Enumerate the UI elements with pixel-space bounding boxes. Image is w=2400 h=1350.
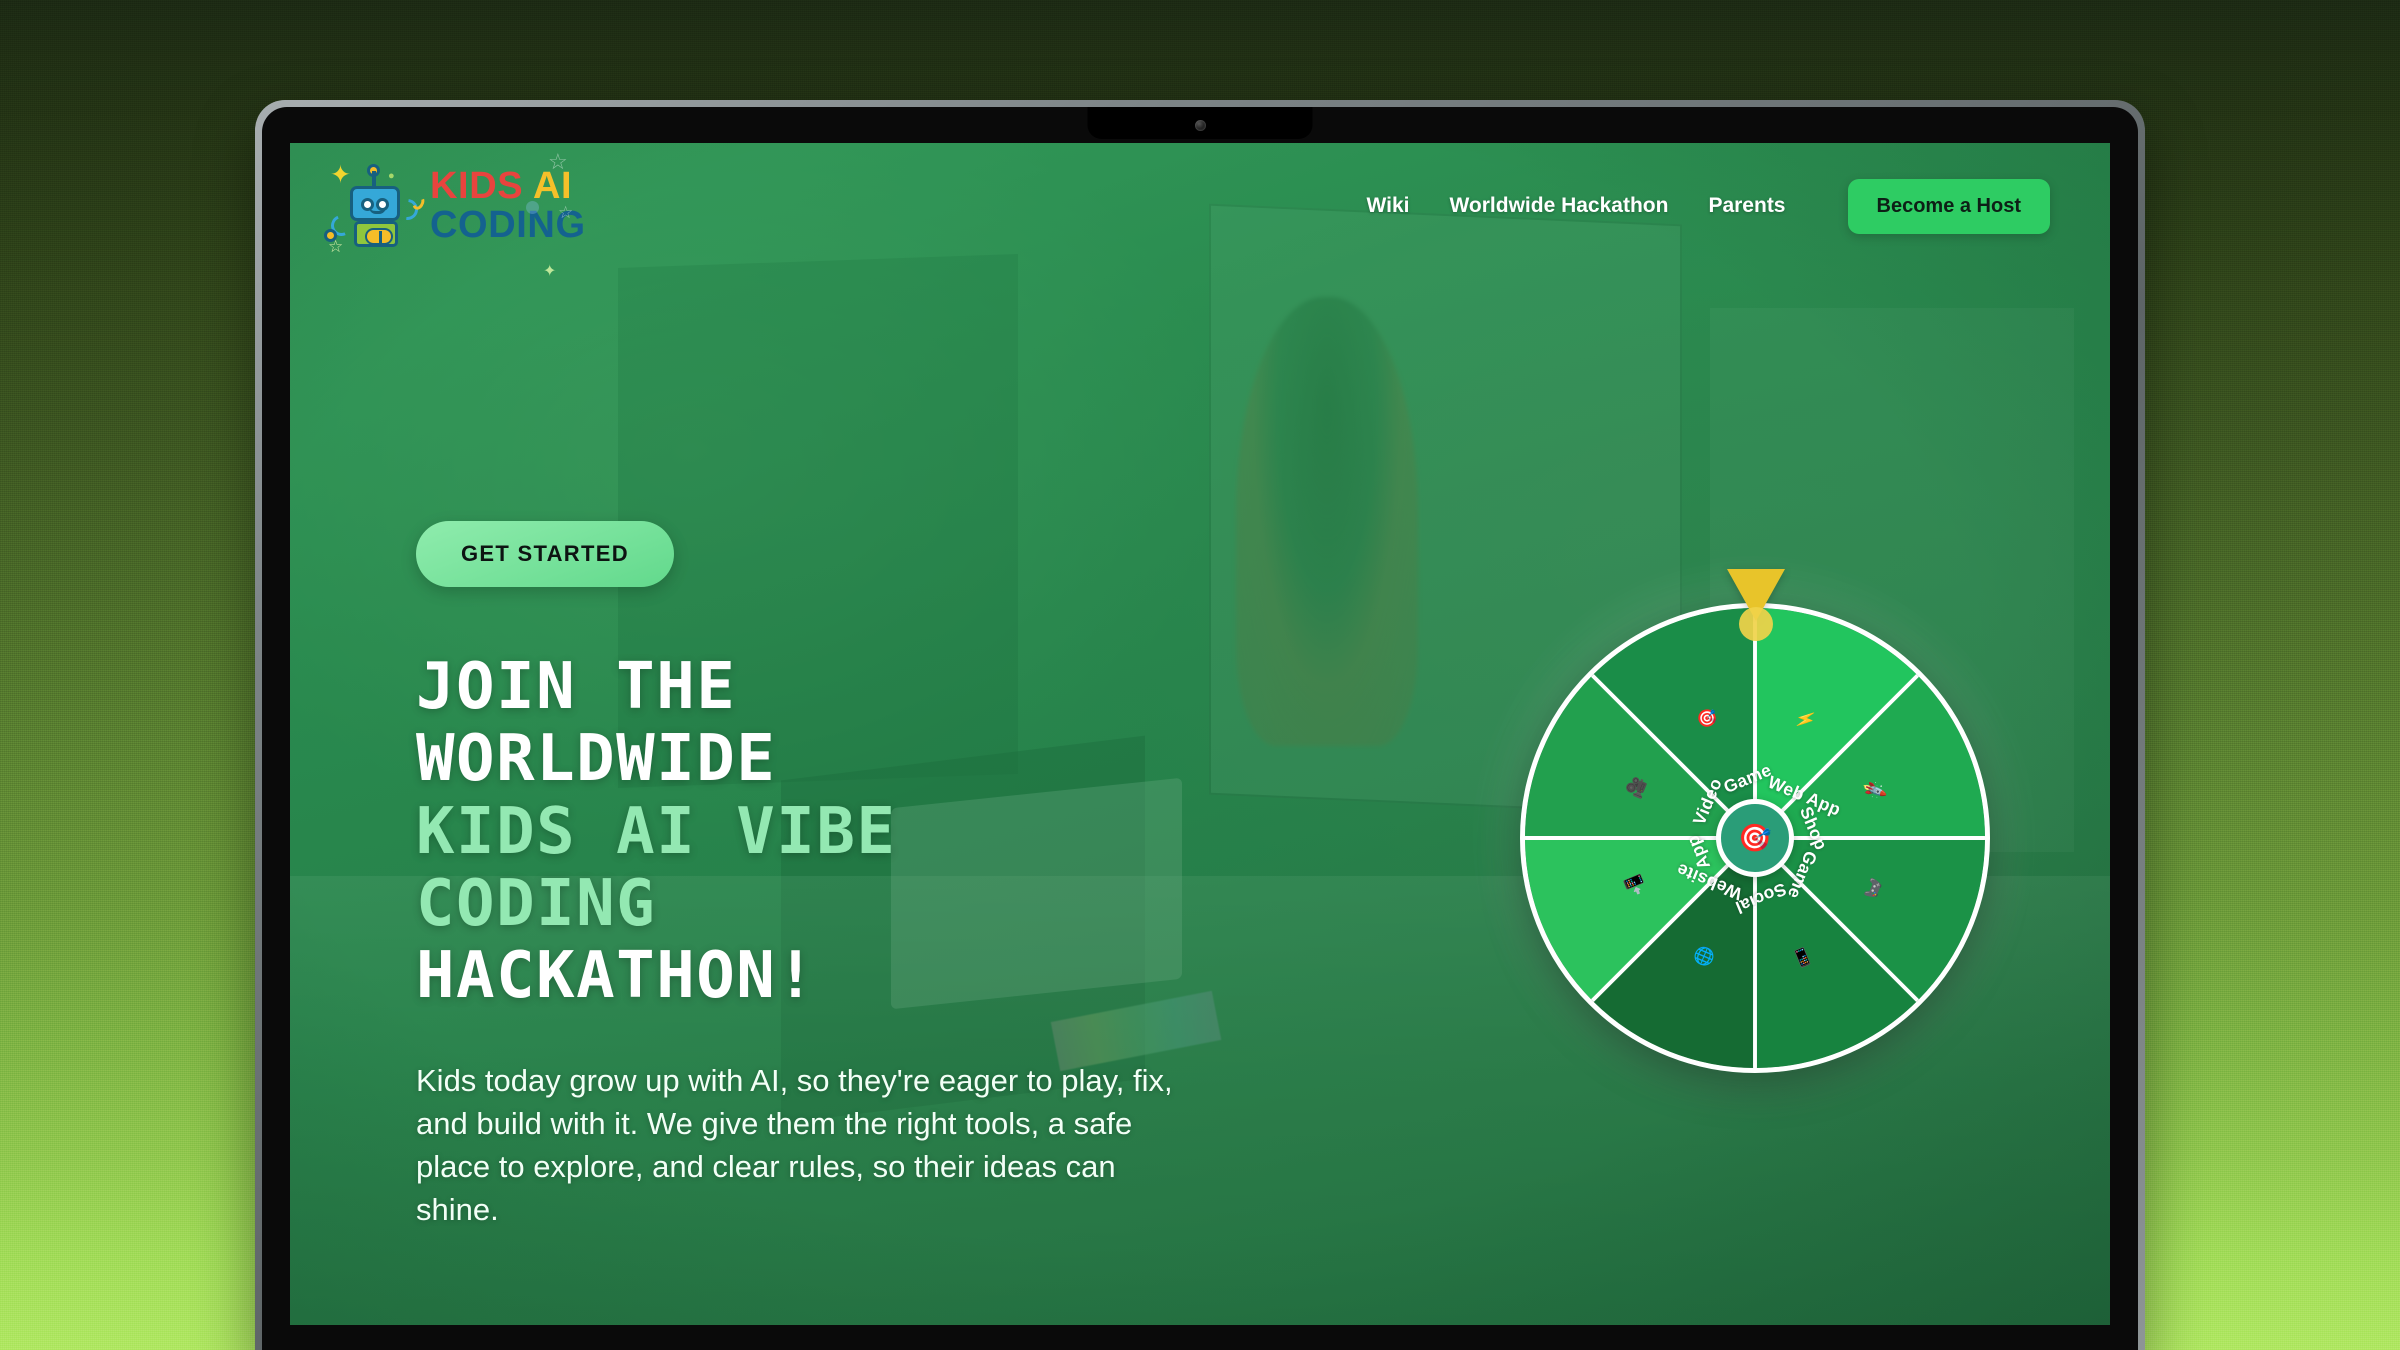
nav-link-parents[interactable]: Parents xyxy=(1708,194,1785,218)
wheel-hub[interactable]: 🎯 xyxy=(1716,799,1794,877)
robot-mouth xyxy=(369,207,386,214)
hero-title-line-2: WORLDWIDE xyxy=(416,722,776,796)
brand-kids-text: KIDS xyxy=(430,165,523,207)
wheel-disc[interactable]: Game🎮Social📱Website🌐App📲Video🎥Game🎯Web A… xyxy=(1520,603,1990,1073)
page-backdrop: ✦ ● ☆ xyxy=(0,0,2400,1350)
robot-hand-left xyxy=(324,229,337,242)
sparkle-icon-2: ● xyxy=(388,171,395,182)
brand-logo[interactable]: ✦ ● ☆ xyxy=(336,165,586,247)
spin-wheel[interactable]: Game🎮Social📱Website🌐App📲Video🎥Game🎯Web A… xyxy=(1476,525,2036,1125)
webcam-icon xyxy=(1195,120,1206,131)
robot-head xyxy=(350,186,400,221)
star-icon-3: ✦ xyxy=(543,261,556,281)
pointer-circle xyxy=(1739,607,1773,641)
sparkle-icon-1: ✦ xyxy=(330,163,351,188)
robot-brain-icon xyxy=(365,228,393,245)
hero-title-line-4: CODING xyxy=(416,867,656,941)
laptop-bezel: ✦ ● ☆ xyxy=(262,107,2138,1350)
nav-link-worldwide-hackathon[interactable]: Worldwide Hackathon xyxy=(1449,194,1668,218)
star-icon-1: ☆ xyxy=(548,149,568,175)
hero-paragraph: Kids today grow up with AI, so they're e… xyxy=(416,1059,1176,1231)
laptop-notch xyxy=(1088,107,1313,139)
robot-mascot-icon: ✦ ● ☆ xyxy=(336,165,414,247)
browser-screen: ✦ ● ☆ xyxy=(290,143,2110,1325)
hero-title-line-1: JOIN THE xyxy=(416,650,736,724)
hero-content: GET STARTED JOIN THE WORLDWIDE KIDS AI V… xyxy=(416,521,1226,1231)
hero-title: JOIN THE WORLDWIDE KIDS AI VIBE CODING H… xyxy=(416,651,1226,1013)
hero-title-line-5: HACKATHON! xyxy=(416,939,816,1013)
robot-antenna xyxy=(372,171,376,187)
wheel-pointer-icon xyxy=(1719,569,1793,643)
nav-link-wiki[interactable]: Wiki xyxy=(1366,194,1409,218)
site-header: ✦ ● ☆ xyxy=(290,143,2110,269)
hero-title-line-3: KIDS AI VIBE xyxy=(416,795,896,869)
laptop-mockup: ✦ ● ☆ xyxy=(255,100,2145,1350)
dot-decor-icon xyxy=(526,201,539,214)
get-started-button[interactable]: GET STARTED xyxy=(416,521,674,587)
star-icon-2: ☆ xyxy=(558,203,573,223)
robot-body xyxy=(354,221,398,247)
main-navigation: Wiki Worldwide Hackathon Parents Become … xyxy=(1366,179,2050,234)
become-a-host-button[interactable]: Become a Host xyxy=(1848,179,2051,234)
hero-section: GET STARTED JOIN THE WORLDWIDE KIDS AI V… xyxy=(290,269,2110,1325)
